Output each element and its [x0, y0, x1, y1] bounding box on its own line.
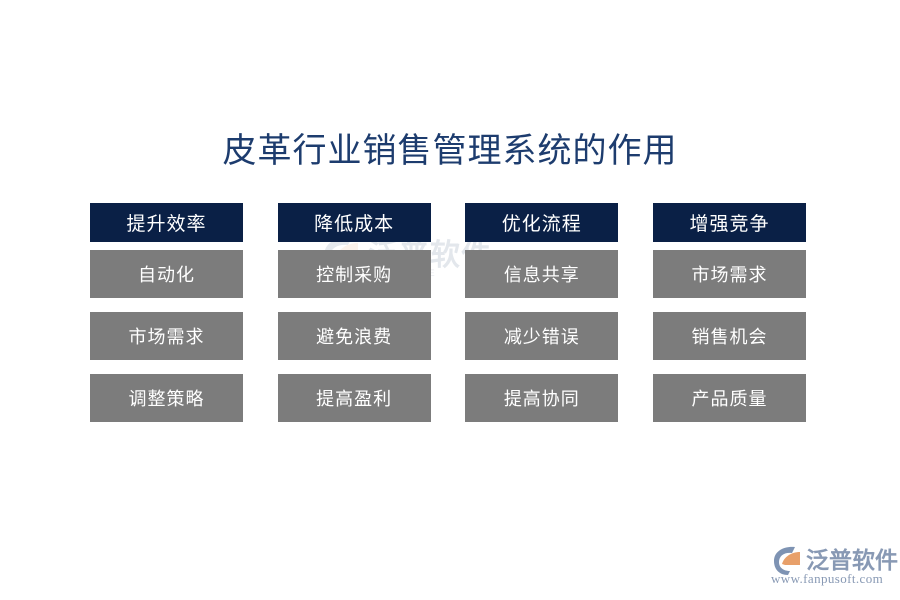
slide-canvas: 泛普软件 SOFTWARE 皮革行业销售管理系统的作用 提升效率 降低成本 优化…	[0, 0, 900, 600]
grid-cell[interactable]: 控制采购	[278, 250, 431, 298]
grid-cell[interactable]: 市场需求	[90, 312, 243, 360]
grid-cell[interactable]: 产品质量	[653, 374, 806, 422]
column-header-optimize-process[interactable]: 优化流程	[465, 203, 618, 242]
brand-url: www.fanpusoft.com	[771, 571, 883, 587]
grid-cell[interactable]: 避免浪费	[278, 312, 431, 360]
grid-cell[interactable]: 销售机会	[653, 312, 806, 360]
grid-row: 自动化 控制采购 信息共享 市场需求	[90, 250, 806, 298]
brand-logo: 泛普软件 www.fanpusoft.com	[770, 543, 892, 591]
column-header-enhance-competition[interactable]: 增强竞争	[653, 203, 806, 242]
grid-cell[interactable]: 信息共享	[465, 250, 618, 298]
grid-cell[interactable]: 减少错误	[465, 312, 618, 360]
benefits-grid: 提升效率 降低成本 优化流程 增强竞争 自动化 控制采购 信息共享 市场需求 市…	[90, 203, 806, 422]
grid-cell[interactable]: 自动化	[90, 250, 243, 298]
grid-cell[interactable]: 市场需求	[653, 250, 806, 298]
brand-name: 泛普软件	[806, 541, 898, 575]
grid-cell[interactable]: 调整策略	[90, 374, 243, 422]
grid-cell[interactable]: 提高协同	[465, 374, 618, 422]
page-title: 皮革行业销售管理系统的作用	[0, 130, 900, 174]
grid-row: 调整策略 提高盈利 提高协同 产品质量	[90, 374, 806, 422]
grid-header-row: 提升效率 降低成本 优化流程 增强竞争	[90, 203, 806, 242]
grid-row: 市场需求 避免浪费 减少错误 销售机会	[90, 312, 806, 360]
column-header-improve-efficiency[interactable]: 提升效率	[90, 203, 243, 242]
grid-cell[interactable]: 提高盈利	[278, 374, 431, 422]
column-header-reduce-cost[interactable]: 降低成本	[278, 203, 431, 242]
